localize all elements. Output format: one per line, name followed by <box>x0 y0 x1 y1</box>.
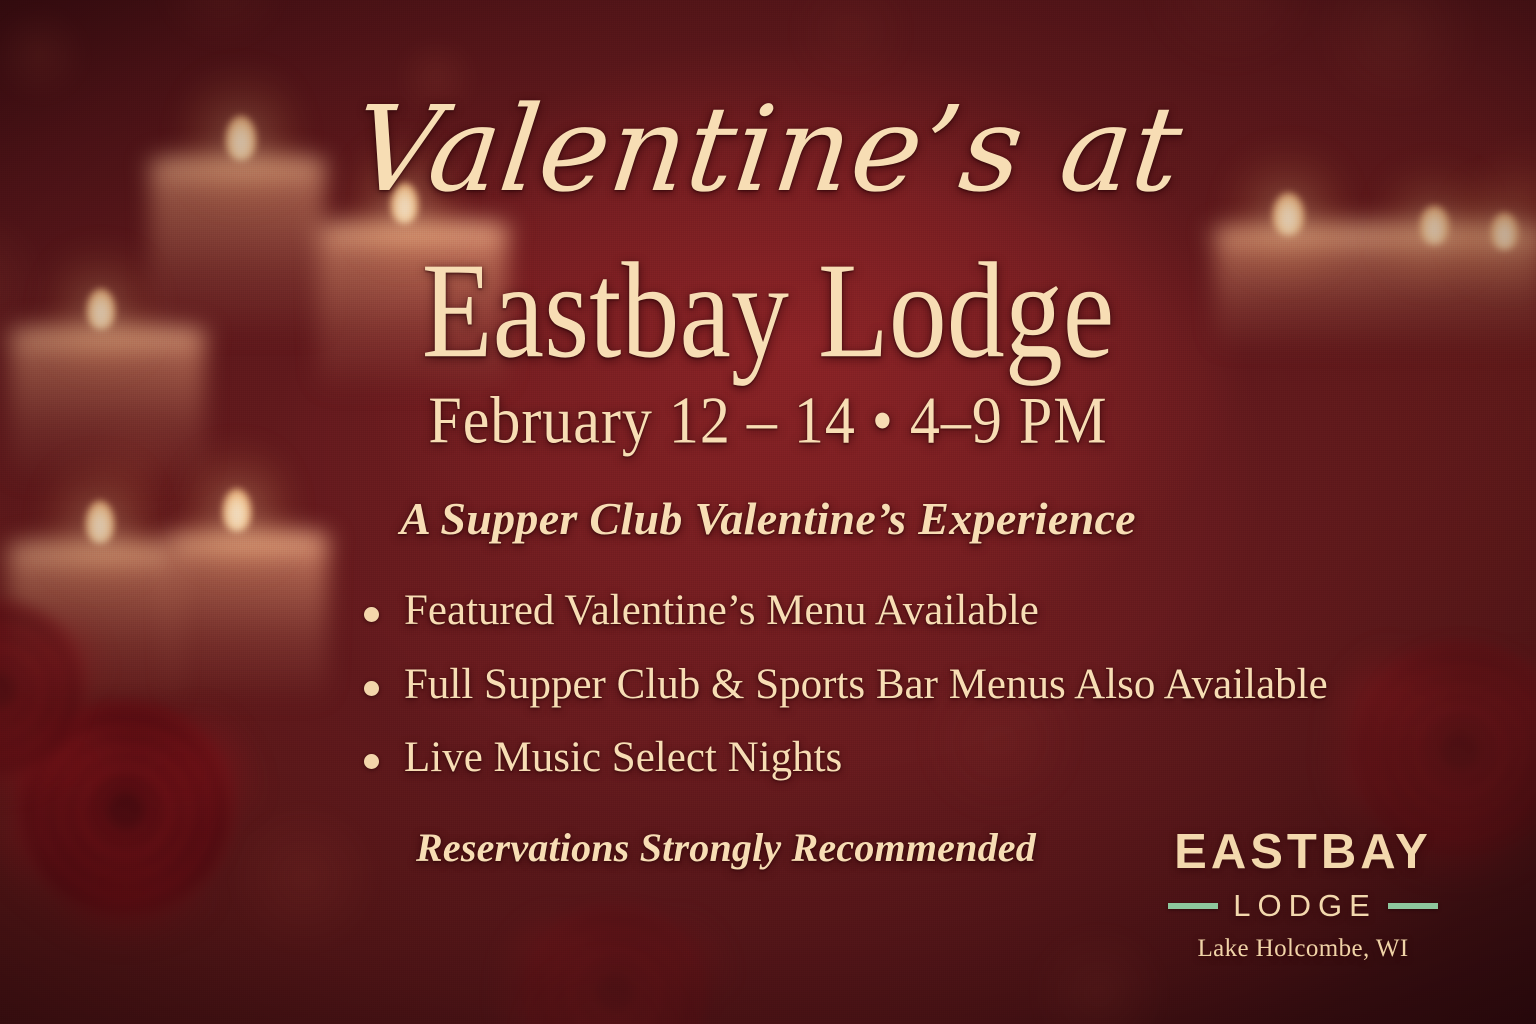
logo-rule-right <box>1388 903 1438 909</box>
list-item-label: Featured Valentine’s Menu Available <box>404 587 1039 634</box>
event-date-time: February 12 – 14 • 4–9 PM <box>0 382 1536 459</box>
list-item-label: Live Music Select Nights <box>404 734 842 781</box>
list-item: Featured Valentine’s Menu Available <box>358 586 1328 637</box>
headline-script: Valentine’s at <box>0 88 1536 212</box>
list-item: Live Music Select Nights <box>358 733 1328 784</box>
bullet-dot-icon <box>364 607 379 622</box>
bullet-dot-icon <box>364 754 379 769</box>
eastbay-lodge-logo: EASTBAY LODGE Lake Holcombe, WI <box>1168 828 1438 963</box>
logo-brand-bottom: LODGE <box>1229 890 1377 921</box>
list-item-label: Full Supper Club & Sports Bar Menus Also… <box>404 661 1328 708</box>
logo-location: Lake Holcombe, WI <box>1168 935 1438 963</box>
logo-brand-top: EASTBAY <box>1168 828 1438 877</box>
reservations-note: Reservations Strongly Recommended <box>416 824 1036 871</box>
headline-main: Eastbay Lodge <box>0 243 1536 380</box>
valentines-promo-poster: Valentine’s at Eastbay Lodge February 12… <box>0 0 1536 1024</box>
logo-lodge-row: LODGE <box>1168 890 1438 921</box>
bullet-dot-icon <box>364 681 379 696</box>
event-subtitle: A Supper Club Valentine’s Experience <box>0 492 1536 545</box>
feature-list: Featured Valentine’s Menu Available Full… <box>358 586 1328 807</box>
poster-content: Valentine’s at Eastbay Lodge February 12… <box>0 0 1536 1024</box>
logo-rule-left <box>1168 903 1218 909</box>
list-item: Full Supper Club & Sports Bar Menus Also… <box>358 660 1328 711</box>
